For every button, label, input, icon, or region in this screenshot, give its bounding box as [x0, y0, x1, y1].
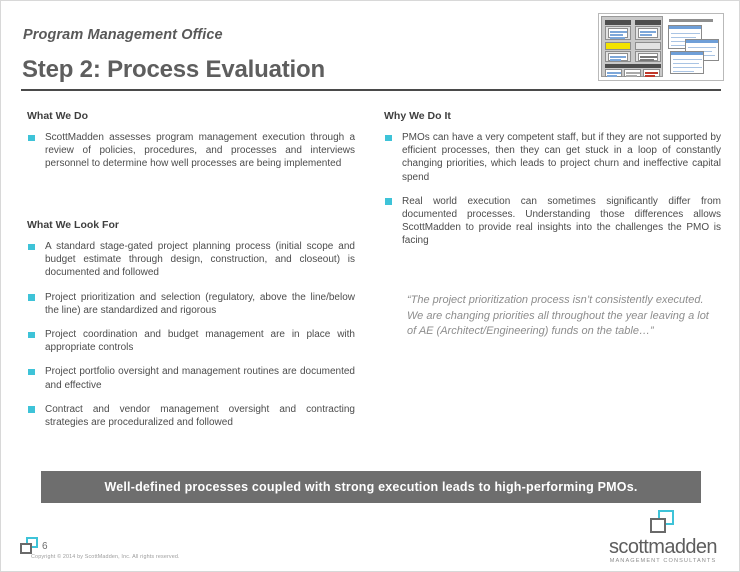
- key-takeaway-text: Well-defined processes coupled with stro…: [104, 480, 637, 494]
- list-item-text: Real world execution can sometimes signi…: [402, 196, 721, 247]
- bullet-square-icon: [28, 369, 35, 376]
- list-item: Project prioritization and selection (re…: [27, 291, 355, 317]
- bullet-square-icon: [28, 294, 35, 301]
- page-title: Step 2: Process Evaluation: [22, 56, 325, 84]
- list-item-text: PMOs can have a very competent staff, bu…: [402, 132, 721, 183]
- list-item-text: Contract and vendor management oversight…: [45, 404, 355, 428]
- list-what-we-look-for: A standard stage-gated project planning …: [27, 240, 355, 429]
- bullet-square-icon: [28, 406, 35, 413]
- list-item: Project coordination and budget manageme…: [27, 328, 355, 354]
- thumbnail-diagram-panel: [601, 16, 663, 77]
- bullet-square-icon: [385, 135, 392, 142]
- heading-what-we-do: What We Do: [27, 110, 88, 122]
- list-item: Contract and vendor management oversight…: [27, 403, 355, 429]
- list-item: A standard stage-gated project planning …: [27, 240, 355, 280]
- list-item: ScottMadden assesses program management …: [27, 131, 355, 171]
- copyright-notice: Copyright © 2014 by ScottMadden, Inc. Al…: [31, 554, 180, 560]
- brand-name: scottmadden: [601, 537, 725, 557]
- brand-logo: scottmadden MANAGEMENT CONSULTANTS: [601, 510, 725, 564]
- customer-quote: “The project prioritization process isn’…: [407, 293, 719, 340]
- list-why-we-do-it: PMOs can have a very competent staff, bu…: [384, 131, 721, 248]
- list-item-text: ScottMadden assesses program management …: [45, 132, 355, 169]
- heading-why-we-do-it: Why We Do It: [384, 110, 451, 122]
- thumbnail-reports-panel: [667, 19, 721, 75]
- list-what-we-do: ScottMadden assesses program management …: [27, 131, 355, 171]
- bullet-square-icon: [28, 135, 35, 142]
- bullet-square-icon: [28, 244, 35, 251]
- title-divider: [21, 89, 721, 91]
- list-item-text: A standard stage-gated project planning …: [45, 241, 355, 278]
- list-item-text: Project prioritization and selection (re…: [45, 292, 355, 316]
- list-item-text: Project coordination and budget manageme…: [45, 329, 355, 353]
- heading-what-we-look-for: What We Look For: [27, 219, 119, 231]
- slide: Program Management Office Step 2: Proces…: [0, 0, 740, 572]
- scottmadden-logo-icon: [648, 510, 678, 536]
- brand-tagline: MANAGEMENT CONSULTANTS: [601, 558, 725, 564]
- process-evaluation-thumbnail: [598, 13, 724, 81]
- list-item: Real world execution can sometimes signi…: [384, 195, 721, 248]
- list-item: PMOs can have a very competent staff, bu…: [384, 131, 721, 184]
- page-number: 6: [42, 541, 48, 552]
- key-takeaway-banner: Well-defined processes coupled with stro…: [41, 471, 701, 503]
- list-item: Project portfolio oversight and manageme…: [27, 365, 355, 391]
- bullet-square-icon: [385, 198, 392, 205]
- bullet-square-icon: [28, 332, 35, 339]
- list-item-text: Project portfolio oversight and manageme…: [45, 366, 355, 390]
- slide-eyebrow: Program Management Office: [23, 27, 223, 43]
